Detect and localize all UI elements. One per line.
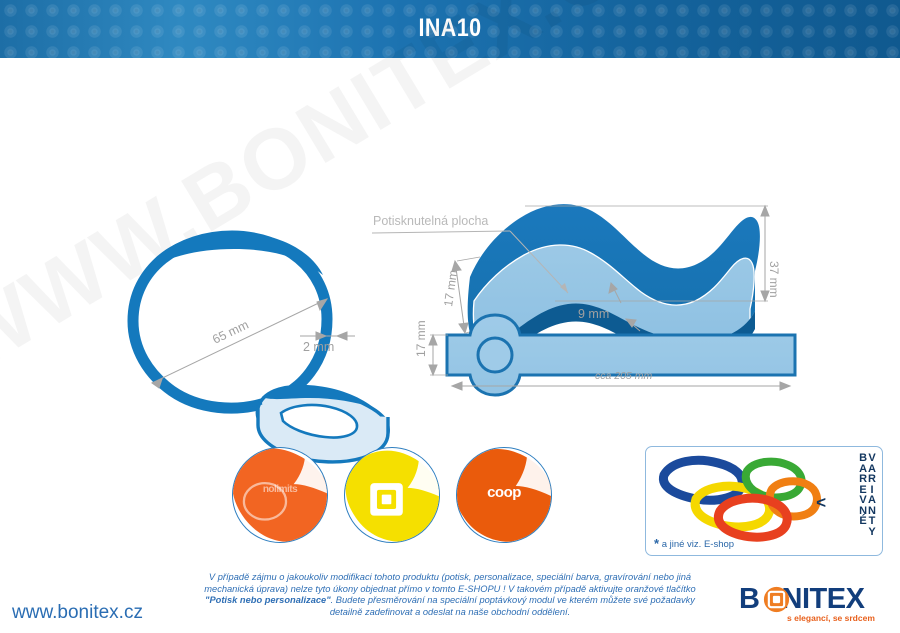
- color-variants-box: < B A R E V N É V A R I A N T Y * a jiné…: [645, 446, 883, 556]
- website-url[interactable]: www.bonitex.cz: [12, 602, 143, 624]
- variants-arrow-icon: <: [816, 493, 826, 513]
- sample-photo-3: coop: [456, 447, 552, 543]
- label-strip-height: 17 mm: [414, 320, 428, 357]
- footer-disclaimer: V případě zájmu o jakoukoliv modifikaci …: [150, 572, 750, 618]
- sample-photo-2: [344, 447, 440, 543]
- band-red: [718, 498, 787, 537]
- variants-note: * a jiné viz. E-shop: [654, 536, 734, 551]
- logo-letter-b: B: [739, 583, 759, 615]
- dimension-loop-diameter: [152, 299, 327, 388]
- wristband-shape-yellow: [344, 447, 440, 543]
- label-head-width: 37 mm: [767, 261, 781, 298]
- wristband-shape-orange: [232, 447, 328, 543]
- sample-logo-3: coop: [457, 484, 551, 501]
- label-print-area: Potisknutelná plocha: [373, 214, 488, 228]
- sample-photos: nolimits coop: [232, 447, 562, 552]
- logo-letters-nitex: NITEX: [782, 583, 865, 615]
- footer-emphasis: "Potisk nebo personalizace": [205, 595, 331, 605]
- label-strip-length: cca 205 mm: [595, 370, 652, 382]
- variants-note-star: *: [654, 536, 659, 551]
- logo-circle-icon: [763, 586, 790, 613]
- page-title: INA10: [63, 14, 837, 43]
- sample-photo-1: nolimits: [232, 447, 328, 543]
- variants-title: B A R E V N É V A R I A N T Y: [859, 453, 876, 551]
- variants-letter: B: [859, 453, 867, 464]
- color-variants-bands: [652, 453, 822, 545]
- variants-letter: R: [868, 474, 876, 485]
- footer-line-1: V případě zájmu o jakoukoliv modifikaci …: [150, 572, 750, 584]
- logo-tagline: s elegancí, se srdcem: [787, 613, 875, 623]
- variants-letter: A: [868, 495, 876, 506]
- variants-letter: Y: [868, 527, 875, 538]
- footer-line-3: "Potisk nebo personalizace". Budete přes…: [150, 595, 750, 607]
- loop-side-view: [133, 232, 327, 408]
- variants-letter: V: [868, 453, 875, 464]
- variants-letter: R: [859, 474, 867, 485]
- label-head-height: 17 mm: [441, 269, 460, 307]
- variants-title-col-left: B A R E V N É: [859, 453, 867, 527]
- label-band-thickness: 2 mm: [303, 340, 334, 354]
- label-head-depth: 9 mm: [578, 307, 609, 321]
- logo-wordmark: BONITEX: [739, 583, 864, 616]
- footer-line-2: mechanická úprava) nelze tyto úkony obje…: [150, 584, 750, 596]
- variants-letter: V: [859, 495, 866, 506]
- footer-line-4: detailně zadefinovat a odeslat na naše o…: [150, 607, 750, 619]
- sample-logo-1: nolimits: [233, 484, 327, 495]
- dimension-strip-height: [429, 335, 448, 375]
- variants-letter: T: [869, 516, 876, 527]
- bonitex-logo: BONITEX s elegancí, se srdcem: [739, 583, 891, 628]
- variants-title-col-right: V A R I A N T Y: [868, 453, 876, 537]
- page-header: INA10: [0, 0, 900, 58]
- label-loop-diameter: 65 mm: [210, 318, 251, 347]
- variants-note-text: a jiné viz. E-shop: [662, 539, 734, 550]
- variants-letter: É: [859, 516, 866, 527]
- footer-line-3-rest: . Budete přesměrování na speciální poptá…: [331, 595, 695, 605]
